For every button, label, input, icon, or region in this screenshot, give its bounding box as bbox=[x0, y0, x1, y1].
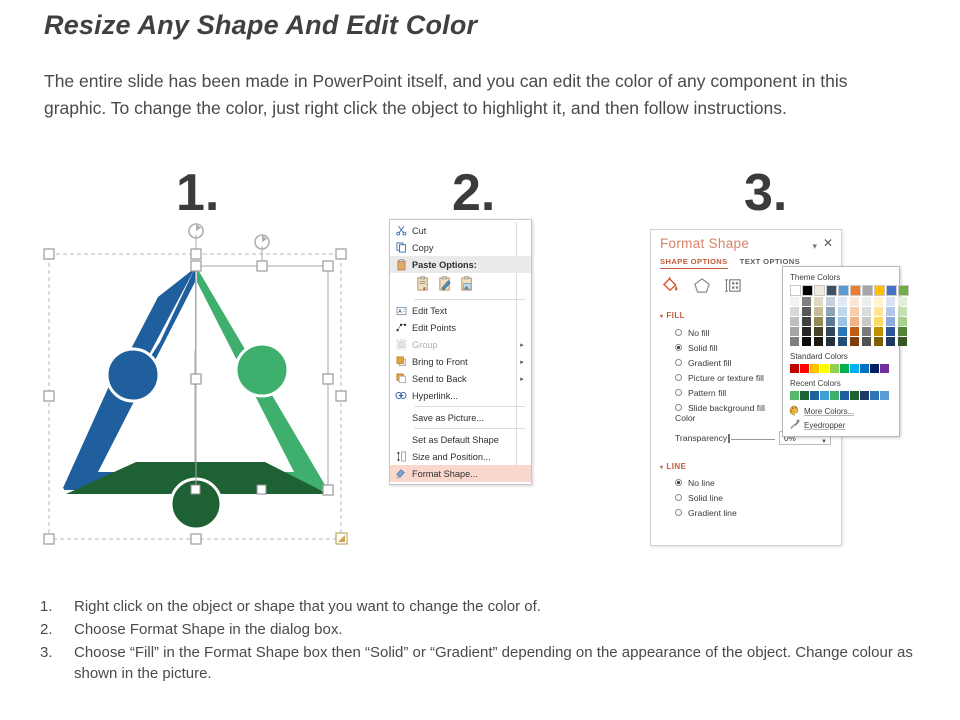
clipboard-icon bbox=[390, 257, 412, 272]
menu-item-label: Save as Picture... bbox=[412, 413, 527, 423]
list-item: 3. Choose “Fill” in the Format Shape box… bbox=[40, 642, 940, 684]
radio-circle-icon bbox=[675, 329, 682, 336]
color-swatch[interactable] bbox=[790, 337, 799, 346]
color-swatch[interactable] bbox=[886, 285, 897, 296]
blue-circle-shape[interactable] bbox=[107, 349, 159, 401]
color-swatch[interactable] bbox=[874, 337, 883, 346]
transparency-label: Transparency bbox=[675, 433, 727, 443]
palette-icon bbox=[789, 405, 800, 418]
color-swatch[interactable] bbox=[838, 285, 849, 296]
color-swatch[interactable] bbox=[790, 391, 799, 400]
hyperlink-icon bbox=[390, 388, 412, 403]
color-swatch[interactable] bbox=[862, 285, 873, 296]
color-swatch[interactable] bbox=[802, 297, 811, 306]
expand-triangle-icon: ▾ bbox=[660, 313, 663, 320]
radio-label: Gradient fill bbox=[688, 358, 731, 368]
radio-picture-texture-fill[interactable]: Picture or texture fill bbox=[675, 370, 765, 385]
line-section-header[interactable]: ▾LINE bbox=[660, 462, 686, 471]
color-swatch[interactable] bbox=[814, 327, 823, 336]
menu-separator bbox=[414, 406, 525, 407]
step-number-1: 1. bbox=[176, 167, 219, 219]
menu-separator bbox=[414, 428, 525, 429]
color-swatch[interactable] bbox=[840, 364, 849, 373]
color-swatch[interactable] bbox=[850, 307, 859, 316]
color-swatch[interactable] bbox=[802, 285, 813, 296]
paste-picture-icon[interactable] bbox=[460, 276, 475, 294]
radio-circle-icon bbox=[675, 359, 682, 366]
chevron-right-icon: ▸ bbox=[517, 375, 527, 383]
pentagon-effects-icon[interactable] bbox=[693, 277, 711, 296]
list-item-text: Choose Format Shape in the dialog box. bbox=[74, 619, 940, 640]
menu-item-label: Paste Options: bbox=[412, 260, 527, 270]
step-number-3: 3. bbox=[744, 167, 787, 219]
copy-icon bbox=[390, 240, 412, 255]
color-swatch[interactable] bbox=[826, 317, 835, 326]
color-swatch[interactable] bbox=[898, 327, 907, 336]
theme-color-column[interactable] bbox=[874, 285, 885, 346]
radio-solid-fill[interactable]: Solid fill bbox=[675, 340, 765, 355]
list-item: 2. Choose Format Shape in the dialog box… bbox=[40, 619, 940, 640]
menu-item-label: Set as Default Shape bbox=[412, 435, 527, 445]
color-swatch[interactable] bbox=[814, 337, 823, 346]
color-swatch[interactable] bbox=[886, 327, 895, 336]
color-swatch[interactable] bbox=[898, 317, 907, 326]
scissors-icon bbox=[390, 223, 412, 238]
edit-points-icon bbox=[390, 320, 412, 335]
radio-circle-icon-selected bbox=[675, 344, 682, 351]
menu-item-label: Send to Back bbox=[412, 374, 517, 384]
recent-colors-header: Recent Colors bbox=[790, 379, 894, 388]
color-swatch[interactable] bbox=[826, 307, 835, 316]
more-colors-item[interactable]: More Colors... bbox=[789, 404, 894, 418]
color-swatch[interactable] bbox=[814, 317, 823, 326]
color-swatch[interactable] bbox=[790, 307, 799, 316]
menu-item-group: Group ▸ bbox=[390, 336, 531, 353]
color-swatch[interactable] bbox=[874, 327, 883, 336]
menu-item-label: Cut bbox=[412, 226, 527, 236]
menu-item-label: Format Shape... bbox=[412, 469, 527, 479]
color-swatch[interactable] bbox=[826, 285, 837, 296]
menu-item-set-default-shape[interactable]: Set as Default Shape bbox=[390, 431, 531, 448]
theme-color-column[interactable] bbox=[802, 285, 813, 346]
color-swatch[interactable] bbox=[814, 297, 823, 306]
menu-item-send-to-back[interactable]: Send to Back ▸ bbox=[390, 370, 531, 387]
format-shape-title: Format Shape bbox=[660, 236, 749, 251]
bring-to-front-icon bbox=[390, 354, 412, 369]
color-swatch[interactable] bbox=[898, 285, 909, 296]
color-swatch[interactable] bbox=[886, 317, 895, 326]
expand-triangle-icon: ▾ bbox=[660, 464, 663, 471]
format-shape-icon bbox=[390, 466, 412, 481]
color-swatch[interactable] bbox=[862, 317, 871, 326]
color-swatch[interactable] bbox=[874, 285, 885, 296]
menu-item-label: Edit Points bbox=[412, 323, 527, 333]
send-to-back-icon bbox=[390, 371, 412, 386]
color-swatch[interactable] bbox=[800, 364, 809, 373]
recent-colors-row[interactable] bbox=[790, 391, 894, 400]
transparency-slider-track[interactable] bbox=[731, 439, 775, 440]
tab-shape-options[interactable]: SHAPE OPTIONS bbox=[660, 257, 728, 269]
eyedropper-item[interactable]: Eyedropper bbox=[789, 418, 894, 432]
color-swatch[interactable] bbox=[790, 297, 799, 306]
radio-label: Solid fill bbox=[688, 343, 718, 353]
radio-label: No fill bbox=[688, 328, 710, 338]
radio-no-line[interactable]: No line bbox=[675, 475, 737, 490]
eyedropper-icon bbox=[789, 419, 800, 432]
color-swatch[interactable] bbox=[874, 317, 883, 326]
color-swatch[interactable] bbox=[830, 364, 839, 373]
color-swatch[interactable] bbox=[870, 391, 879, 400]
fill-options-group[interactable]: No fill Solid fill Gradient fill Picture… bbox=[675, 325, 765, 415]
color-label: Color bbox=[675, 413, 696, 423]
menu-item-label: Group bbox=[412, 340, 517, 350]
color-swatch[interactable] bbox=[886, 297, 895, 306]
color-swatch[interactable] bbox=[862, 327, 871, 336]
step-number-2: 2. bbox=[452, 167, 495, 219]
size-properties-icon[interactable] bbox=[724, 277, 742, 296]
color-swatch[interactable] bbox=[886, 337, 895, 346]
menu-item-label: Edit Text bbox=[412, 306, 527, 316]
radio-circle-icon bbox=[675, 389, 682, 396]
radio-circle-icon bbox=[675, 509, 682, 516]
context-menu[interactable]: Cut Copy Paste Options: bbox=[389, 219, 532, 485]
color-swatch[interactable] bbox=[802, 307, 811, 316]
theme-color-column[interactable] bbox=[814, 285, 825, 346]
eyedropper-label: Eyedropper bbox=[804, 421, 845, 430]
selected-shape-graphic[interactable] bbox=[40, 222, 360, 550]
theme-colors-grid[interactable] bbox=[790, 285, 894, 346]
shape-svg bbox=[40, 222, 360, 550]
color-swatch[interactable] bbox=[880, 364, 889, 373]
radio-label: No line bbox=[688, 478, 715, 488]
menu-item-edit-text[interactable]: A Edit Text bbox=[390, 302, 531, 319]
color-swatch[interactable] bbox=[810, 364, 819, 373]
color-swatch[interactable] bbox=[800, 391, 809, 400]
color-picker-dropdown[interactable]: Theme Colors Standard Colors Recent Colo… bbox=[782, 266, 900, 437]
color-swatch[interactable] bbox=[820, 391, 829, 400]
list-item-number: 1. bbox=[40, 596, 74, 617]
paste-keep-source-icon[interactable]: a bbox=[416, 276, 431, 294]
radio-no-fill[interactable]: No fill bbox=[675, 325, 765, 340]
color-swatch[interactable] bbox=[886, 307, 895, 316]
list-item-text: Choose “Fill” in the Format Shape box th… bbox=[74, 642, 940, 684]
color-swatch[interactable] bbox=[860, 364, 869, 373]
color-swatch[interactable] bbox=[860, 391, 869, 400]
standard-colors-header: Standard Colors bbox=[790, 352, 894, 361]
theme-color-column[interactable] bbox=[790, 285, 801, 346]
color-swatch[interactable] bbox=[874, 307, 883, 316]
color-swatch[interactable] bbox=[838, 337, 847, 346]
color-swatch[interactable] bbox=[898, 337, 907, 346]
color-swatch[interactable] bbox=[790, 327, 799, 336]
color-swatch[interactable] bbox=[862, 337, 871, 346]
color-swatch[interactable] bbox=[862, 307, 871, 316]
menu-item-label: Hyperlink... bbox=[412, 391, 527, 401]
paste-options-row[interactable]: a bbox=[390, 273, 531, 297]
radio-label: Gradient line bbox=[688, 508, 737, 518]
color-swatch[interactable] bbox=[790, 317, 799, 326]
color-swatch[interactable] bbox=[880, 391, 889, 400]
color-swatch[interactable] bbox=[790, 285, 801, 296]
fill-bucket-icon[interactable] bbox=[661, 276, 680, 296]
color-swatch[interactable] bbox=[826, 327, 835, 336]
fill-section-header[interactable]: ▾FILL bbox=[660, 311, 685, 320]
menu-item-format-shape[interactable]: Format Shape... bbox=[390, 465, 531, 482]
theme-color-column[interactable] bbox=[850, 285, 861, 346]
menu-item-label: Bring to Front bbox=[412, 357, 517, 367]
intro-paragraph: The entire slide has been made in PowerP… bbox=[44, 68, 872, 122]
theme-color-column[interactable] bbox=[886, 285, 897, 346]
menu-item-size-and-position[interactable]: Size and Position... bbox=[390, 448, 531, 465]
radio-gradient-fill[interactable]: Gradient fill bbox=[675, 355, 765, 370]
color-swatch[interactable] bbox=[826, 297, 835, 306]
radio-pattern-fill[interactable]: Pattern fill bbox=[675, 385, 765, 400]
instructions-list: 1. Right click on the object or shape th… bbox=[40, 596, 940, 686]
color-swatch[interactable] bbox=[820, 364, 829, 373]
no-icon bbox=[390, 432, 412, 447]
color-swatch[interactable] bbox=[838, 327, 847, 336]
theme-color-column[interactable] bbox=[838, 285, 849, 346]
color-swatch[interactable] bbox=[814, 285, 825, 296]
page-title: Resize Any Shape And Edit Color bbox=[44, 10, 477, 41]
color-swatch[interactable] bbox=[810, 391, 819, 400]
list-item-number: 2. bbox=[40, 619, 74, 640]
green-circle-shape[interactable] bbox=[236, 344, 288, 396]
color-swatch[interactable] bbox=[898, 297, 907, 306]
more-colors-label: More Colors... bbox=[804, 407, 854, 416]
color-swatch[interactable] bbox=[874, 297, 883, 306]
format-pane-tabs[interactable]: SHAPE OPTIONS TEXT OPTIONS bbox=[660, 257, 800, 269]
radio-label: Picture or texture fill bbox=[688, 373, 764, 383]
theme-color-column[interactable] bbox=[826, 285, 837, 346]
color-swatch[interactable] bbox=[830, 391, 839, 400]
theme-color-column[interactable] bbox=[898, 285, 909, 346]
menu-item-label: Copy bbox=[412, 243, 527, 253]
group-icon bbox=[390, 337, 412, 352]
menu-item-hyperlink[interactable]: Hyperlink... bbox=[390, 387, 531, 404]
menu-item-bring-to-front[interactable]: Bring to Front ▸ bbox=[390, 353, 531, 370]
radio-circle-icon bbox=[675, 494, 682, 501]
menu-item-edit-points[interactable]: Edit Points bbox=[390, 319, 531, 336]
theme-colors-header: Theme Colors bbox=[790, 273, 894, 282]
radio-circle-icon bbox=[675, 374, 682, 381]
color-swatch[interactable] bbox=[840, 391, 849, 400]
standard-colors-row[interactable] bbox=[790, 364, 894, 373]
color-swatch[interactable] bbox=[838, 307, 847, 316]
color-swatch[interactable] bbox=[898, 307, 907, 316]
color-swatch[interactable] bbox=[802, 327, 811, 336]
color-swatch[interactable] bbox=[838, 317, 847, 326]
color-swatch[interactable] bbox=[850, 391, 859, 400]
color-swatch[interactable] bbox=[862, 297, 871, 306]
radio-label: Solid line bbox=[688, 493, 723, 503]
no-icon bbox=[390, 410, 412, 425]
color-swatch[interactable] bbox=[826, 337, 835, 346]
list-item-text: Right click on the object or shape that … bbox=[74, 596, 940, 617]
color-swatch[interactable] bbox=[850, 337, 859, 346]
radio-gradient-line[interactable]: Gradient line bbox=[675, 505, 737, 520]
color-swatch[interactable] bbox=[850, 285, 861, 296]
list-item: 1. Right click on the object or shape th… bbox=[40, 596, 940, 617]
chevron-down-icon[interactable]: ▾ bbox=[812, 241, 817, 252]
line-options-group[interactable]: No line Solid line Gradient line bbox=[675, 475, 737, 520]
format-pane-tool-icons[interactable] bbox=[661, 276, 742, 296]
radio-circle-icon-selected bbox=[675, 479, 682, 486]
color-swatch[interactable] bbox=[850, 297, 859, 306]
color-swatch[interactable] bbox=[802, 337, 811, 346]
color-swatch[interactable] bbox=[850, 317, 859, 326]
size-position-icon bbox=[390, 449, 412, 464]
close-icon[interactable]: ✕ bbox=[823, 237, 833, 249]
menu-item-cut[interactable]: Cut bbox=[390, 222, 531, 239]
color-swatch[interactable] bbox=[838, 297, 847, 306]
menu-item-paste-options[interactable]: Paste Options: bbox=[390, 256, 531, 273]
chevron-right-icon: ▸ bbox=[517, 341, 527, 349]
color-swatch[interactable] bbox=[790, 364, 799, 373]
color-swatch[interactable] bbox=[870, 364, 879, 373]
menu-separator bbox=[414, 299, 525, 300]
radio-solid-line[interactable]: Solid line bbox=[675, 490, 737, 505]
color-swatch[interactable] bbox=[814, 307, 823, 316]
theme-color-column[interactable] bbox=[862, 285, 873, 346]
slide-canvas: Resize Any Shape And Edit Color The enti… bbox=[0, 0, 960, 720]
edit-text-icon: A bbox=[390, 303, 412, 318]
resize-corner-marker[interactable] bbox=[336, 533, 347, 544]
paste-merge-formatting-icon[interactable] bbox=[438, 276, 453, 294]
color-swatch[interactable] bbox=[850, 364, 859, 373]
transparency-slider-knob[interactable] bbox=[728, 434, 730, 443]
color-swatch[interactable] bbox=[802, 317, 811, 326]
list-item-number: 3. bbox=[40, 642, 74, 684]
chevron-right-icon: ▸ bbox=[517, 358, 527, 366]
menu-item-copy[interactable]: Copy bbox=[390, 239, 531, 256]
color-swatch[interactable] bbox=[850, 327, 859, 336]
menu-item-save-as-picture[interactable]: Save as Picture... bbox=[390, 409, 531, 426]
menu-item-label: Size and Position... bbox=[412, 452, 527, 462]
radio-label: Pattern fill bbox=[688, 388, 726, 398]
